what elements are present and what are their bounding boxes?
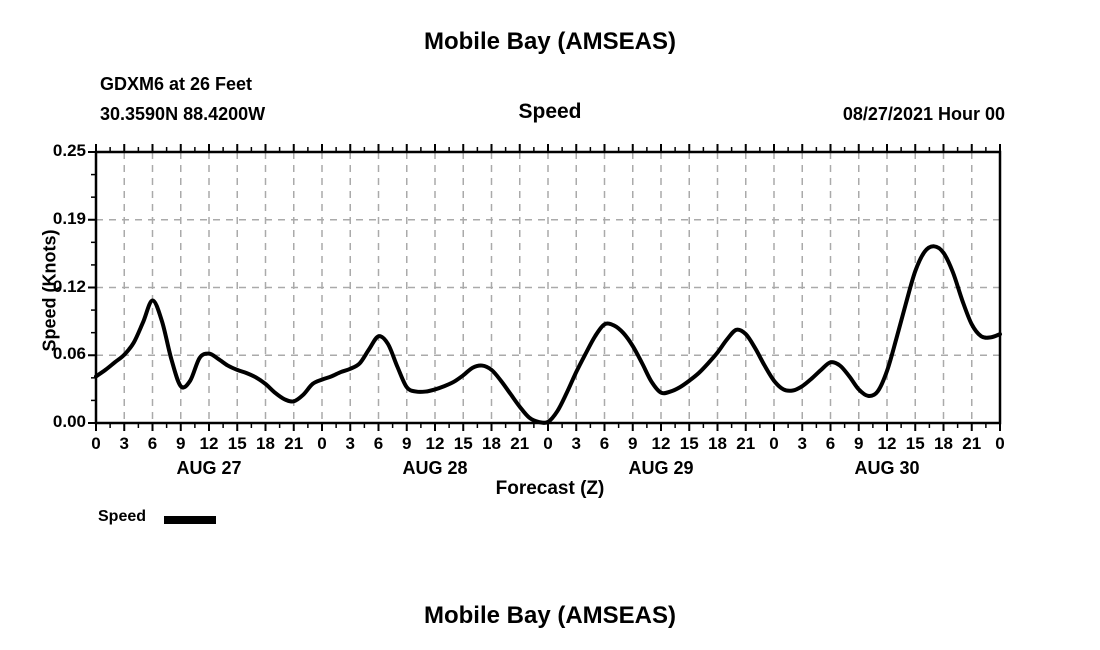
vertical-gridlines — [124, 152, 972, 423]
legend-label: Speed — [98, 508, 146, 526]
plot-area — [0, 0, 1100, 650]
chart-figure: Mobile Bay (AMSEAS) GDXM6 at 26 Feet 30.… — [0, 0, 1100, 650]
legend-swatch — [164, 516, 216, 524]
chart-title-bottom: Mobile Bay (AMSEAS) — [0, 602, 1100, 630]
